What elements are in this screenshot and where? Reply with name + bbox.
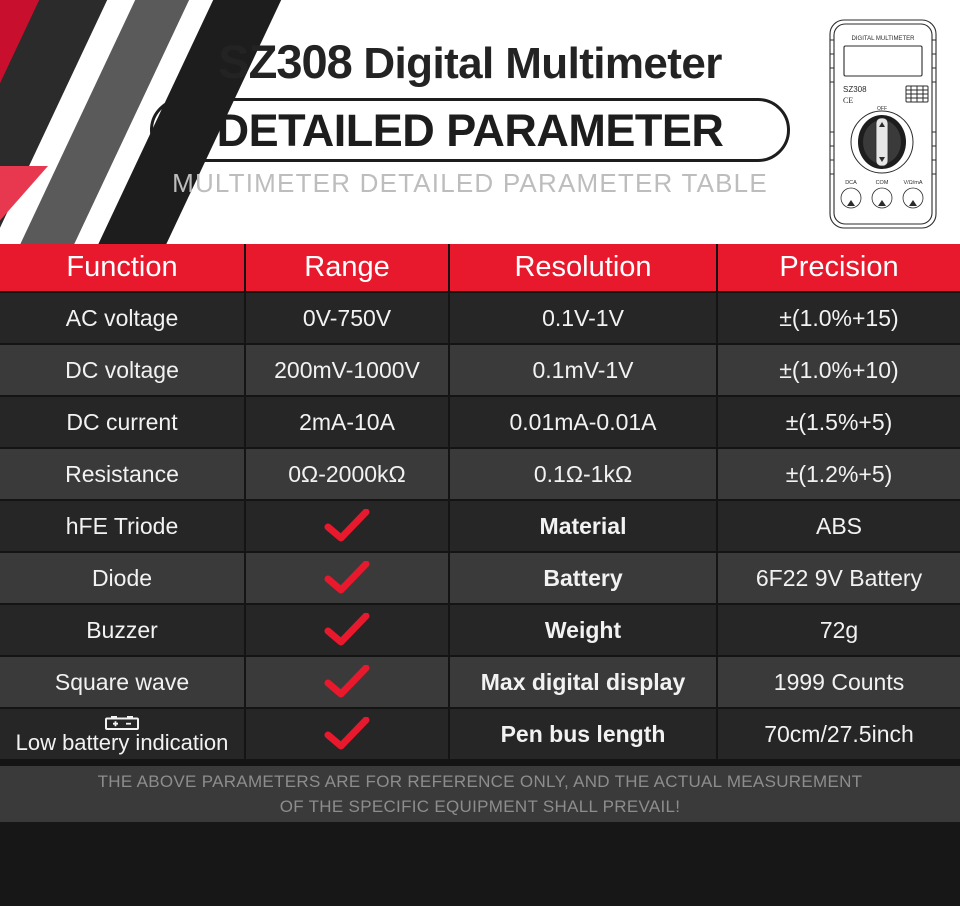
column-header-resolution: Resolution [450, 244, 718, 293]
cell-precision: 6F22 9V Battery [718, 553, 960, 605]
header-banner: SZ308 Digital Multimeter DETAILED PARAME… [0, 0, 960, 244]
checkmark-icon [324, 717, 370, 751]
cell-range: 0V-750V [246, 293, 450, 345]
cell-precision: 70cm/27.5inch [718, 709, 960, 761]
disclaimer-line-2: OF THE SPECIFIC EQUIPMENT SHALL PREVAIL! [280, 794, 681, 819]
title-model: SZ308 [218, 35, 351, 88]
cell-resolution: Material [450, 501, 718, 553]
cell-resolution: Pen bus length [450, 709, 718, 761]
cell-range: 2mA-10A [246, 397, 450, 449]
cell-precision: ±(1.5%+5) [718, 397, 960, 449]
battery-icon [105, 715, 139, 730]
device-ce-mark: CE [843, 96, 853, 105]
checkmark-icon [324, 509, 370, 543]
cell-resolution: 0.1Ω-1kΩ [450, 449, 718, 501]
device-model-text: SZ308 [843, 85, 867, 94]
checkmark-icon [324, 561, 370, 595]
cell-precision: 72g [718, 605, 960, 657]
cell-range-check [246, 553, 450, 605]
cell-function: Resistance [0, 449, 246, 501]
cell-function: Low battery indication [0, 709, 246, 761]
cell-function: DC current [0, 397, 246, 449]
device-jack-com-label: COM [876, 180, 889, 186]
cell-resolution: 0.1V-1V [450, 293, 718, 345]
table-row: DC voltage200mV-1000V0.1mV-1V±(1.0%+10) [0, 345, 960, 397]
cell-precision: ABS [718, 501, 960, 553]
table-header-row: Function Range Resolution Precision [0, 244, 960, 293]
cell-range-check [246, 657, 450, 709]
column-header-range: Range [246, 244, 450, 293]
table-row: Low battery indicationPen bus length70cm… [0, 709, 960, 761]
cell-function: DC voltage [0, 345, 246, 397]
pill-label: DETAILED PARAMETER [217, 108, 724, 153]
cell-function: Square wave [0, 657, 246, 709]
cell-precision: ±(1.2%+5) [718, 449, 960, 501]
disclaimer-footer: THE ABOVE PARAMETERS ARE FOR REFERENCE O… [0, 766, 960, 822]
table-row: Square waveMax digital display1999 Count… [0, 657, 960, 709]
cell-precision: 1999 Counts [718, 657, 960, 709]
title-block: SZ308 Digital Multimeter DETAILED PARAME… [150, 34, 790, 197]
column-header-precision: Precision [718, 244, 960, 293]
cell-range-check [246, 709, 450, 761]
cell-function: Buzzer [0, 605, 246, 657]
checkmark-icon [324, 613, 370, 647]
page-subtitle: MULTIMETER DETAILED PARAMETER TABLE [150, 169, 790, 197]
device-dial-off-label: OFF [877, 106, 887, 112]
cell-range: 200mV-1000V [246, 345, 450, 397]
cell-function: hFE Triode [0, 501, 246, 553]
cell-resolution: Battery [450, 553, 718, 605]
device-rotary-dial [851, 111, 913, 173]
disclaimer-line-1: THE ABOVE PARAMETERS ARE FOR REFERENCE O… [98, 769, 863, 794]
title-subject: Digital Multimeter [352, 39, 722, 88]
bottom-strip [0, 822, 960, 906]
cell-resolution: 0.1mV-1V [450, 345, 718, 397]
cell-function: Diode [0, 553, 246, 605]
table-row: DiodeBattery6F22 9V Battery [0, 553, 960, 605]
cell-range: 0Ω-2000kΩ [246, 449, 450, 501]
cell-range-check [246, 501, 450, 553]
cell-resolution: 0.01mA-0.01A [450, 397, 718, 449]
device-jack-vohm-label: V/Ω/mA [903, 180, 922, 186]
table-row: AC voltage0V-750V0.1V-1V±(1.0%+15) [0, 293, 960, 345]
multimeter-product-illustration: DIGITAL MULTIMETER SZ308 CE OFF [818, 14, 948, 234]
cell-function-label: Low battery indication [16, 731, 229, 754]
table-row: BuzzerWeight72g [0, 605, 960, 657]
cell-resolution: Max digital display [450, 657, 718, 709]
detailed-parameter-pill: DETAILED PARAMETER [150, 98, 790, 162]
infographic-page: SZ308 Digital Multimeter DETAILED PARAME… [0, 0, 960, 906]
cell-precision: ±(1.0%+10) [718, 345, 960, 397]
column-header-function: Function [0, 244, 246, 293]
parameter-table: Function Range Resolution Precision AC v… [0, 244, 960, 761]
table-row: hFE TriodeMaterialABS [0, 501, 960, 553]
cell-resolution: Weight [450, 605, 718, 657]
cell-range-check [246, 605, 450, 657]
table-row: Resistance0Ω-2000kΩ0.1Ω-1kΩ±(1.2%+5) [0, 449, 960, 501]
cell-function: AC voltage [0, 293, 246, 345]
checkmark-icon [324, 665, 370, 699]
table-row: DC current2mA-10A0.01mA-0.01A±(1.5%+5) [0, 397, 960, 449]
device-brand-text: DIGITAL MULTIMETER [852, 36, 916, 42]
device-jack-dca-label: DCA [845, 180, 857, 186]
page-title: SZ308 Digital Multimeter [150, 34, 790, 92]
cell-precision: ±(1.0%+15) [718, 293, 960, 345]
